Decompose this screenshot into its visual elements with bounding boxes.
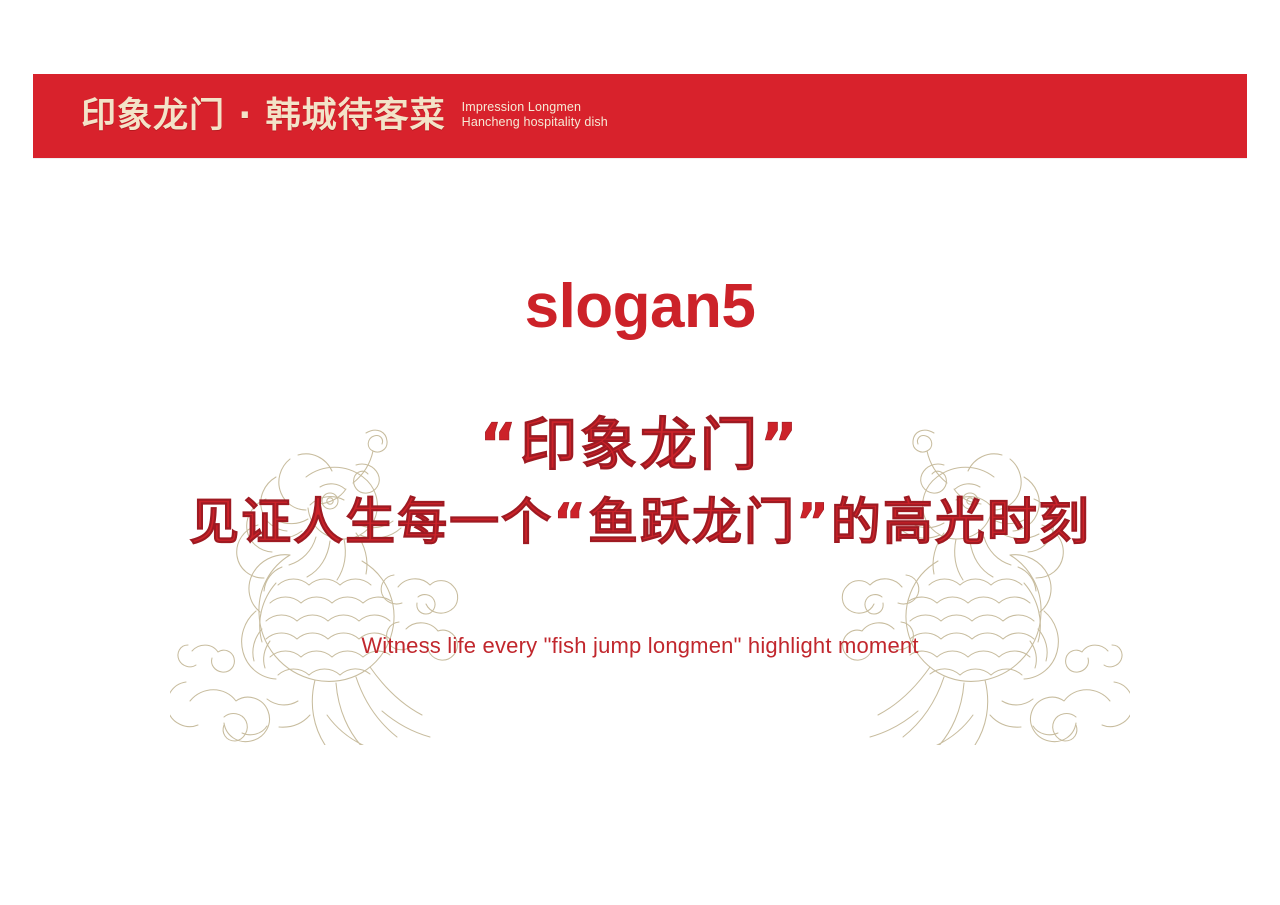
header-band: 印象龙门 · 韩城待客菜 Impression Longmen Hancheng… xyxy=(33,74,1247,158)
brand-lockup: 印象龙门 · 韩城待客菜 Impression Longmen Hancheng… xyxy=(81,74,608,158)
headline-line-1: “印象龙门” xyxy=(0,414,1280,477)
headline-line-2: 见证人生每一个“鱼跃龙门”的高光时刻 xyxy=(0,494,1280,552)
slide-canvas: 印象龙门 · 韩城待客菜 Impression Longmen Hancheng… xyxy=(0,0,1280,905)
brand-title-cn: 印象龙门 · 韩城待客菜 xyxy=(81,99,446,134)
brand-subtitle-en-line1: Impression Longmen xyxy=(462,100,608,115)
slogan-label: slogan5 xyxy=(0,276,1280,338)
brand-subtitle-en-group: Impression Longmen Hancheng hospitality … xyxy=(462,100,608,132)
subtitle-english: Witness life every "fish jump longmen" h… xyxy=(0,633,1280,659)
brand-subtitle-en-line2: Hancheng hospitality dish xyxy=(462,115,608,130)
